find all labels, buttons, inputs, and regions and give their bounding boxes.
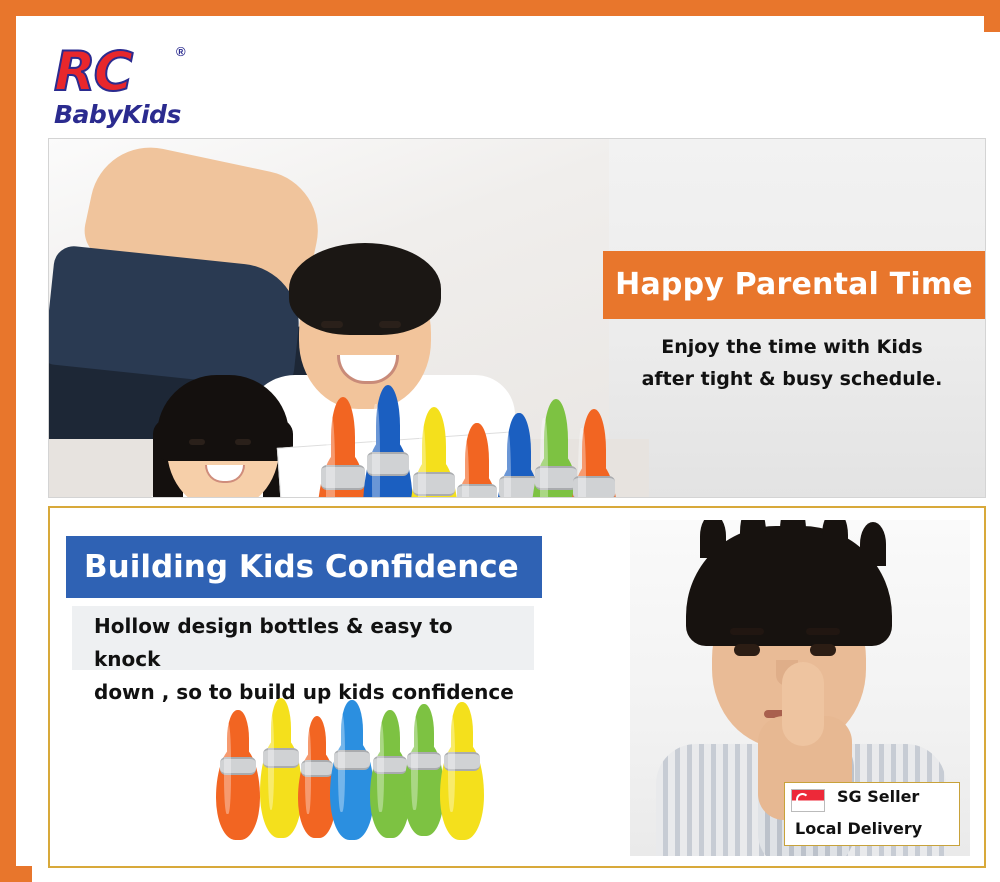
bottom-feature-panel: Building Kids Confidence Hollow design b…	[48, 506, 986, 868]
bowling-pin	[453, 423, 501, 498]
photo-boy-hair-spike-1	[700, 520, 726, 558]
pin-highlight	[372, 404, 380, 498]
photo-girl-eye-right	[235, 439, 251, 445]
bowling-pins-bottom-group	[216, 684, 486, 844]
top-caption-line2: after tight & busy schedule.	[611, 363, 973, 395]
local-delivery-label: Local Delivery	[795, 819, 922, 838]
logo-rc-text: RC	[54, 40, 131, 103]
pin-highlight	[338, 714, 345, 812]
bowling-pin	[409, 407, 459, 498]
photo-boy-eye-left	[734, 644, 760, 656]
bowling-pins-top-group	[317, 379, 617, 498]
top-banner: Happy Parental Time	[603, 251, 985, 319]
bowling-pin	[569, 409, 619, 498]
photo-girl-eye-left	[189, 439, 205, 445]
photo-boy-hair-spike-5	[860, 522, 886, 566]
top-banner-label: Happy Parental Time	[603, 251, 985, 319]
photo-boy-hair-spike-2	[740, 520, 766, 560]
logo-rc-badge: RC	[54, 46, 178, 102]
photo-boy-eye-right	[810, 644, 836, 656]
boy-thumbs-up-photo: SG Seller Local Delivery	[630, 520, 970, 856]
bottom-caption: Hollow design bottles & easy to knock do…	[72, 606, 534, 670]
sg-seller-badge: SG Seller Local Delivery	[784, 782, 960, 846]
top-caption-line1: Enjoy the time with Kids	[611, 331, 973, 363]
bottom-banner: Building Kids Confidence	[66, 536, 542, 598]
crescent-moon-icon	[796, 793, 809, 806]
photo-dad-eye-left	[321, 321, 343, 328]
bottom-caption-line1: Hollow design bottles & easy to knock	[94, 610, 524, 676]
photo-dad-hair	[289, 243, 441, 335]
pin-highlight	[305, 728, 311, 813]
pin-highlight	[326, 416, 334, 498]
registered-trademark-icon: ®	[176, 44, 186, 59]
poster-inner-canvas: RC ® BabyKids	[32, 32, 1000, 882]
photo-boy-brow-left	[730, 628, 764, 635]
pin-highlight	[224, 723, 231, 814]
bowling-pin	[216, 710, 260, 840]
bowling-pin	[330, 700, 374, 840]
bowling-pin	[363, 385, 413, 498]
singapore-flag-icon	[791, 789, 825, 812]
bowling-pin	[317, 397, 369, 498]
poster-outer-border: RC ® BabyKids	[0, 0, 1000, 882]
pin-highlight	[448, 716, 455, 813]
pin-highlight	[540, 418, 548, 498]
photo-boy-hair-spike-3	[780, 520, 806, 560]
pin-highlight	[411, 717, 417, 809]
thumbs-up-icon	[782, 662, 824, 746]
top-caption: Enjoy the time with Kids after tight & b…	[611, 331, 973, 395]
pin-highlight	[268, 712, 275, 810]
photo-boy-hair-spike-4	[822, 520, 848, 560]
bowling-pin	[440, 702, 484, 840]
brand-logo[interactable]: RC ® BabyKids	[48, 42, 228, 138]
photo-dad-eye-right	[379, 321, 401, 328]
bottom-banner-label: Building Kids Confidence	[66, 536, 542, 598]
pin-highlight	[418, 425, 426, 498]
logo-subtitle: BabyKids	[54, 100, 181, 129]
sg-seller-label: SG Seller	[837, 787, 919, 806]
pin-highlight	[377, 723, 383, 813]
bowling-pin	[260, 698, 302, 838]
photo-boy-brow-right	[806, 628, 840, 635]
top-feature-panel: Happy Parental Time Enjoy the time with …	[48, 138, 986, 498]
bowling-pin	[404, 704, 444, 836]
